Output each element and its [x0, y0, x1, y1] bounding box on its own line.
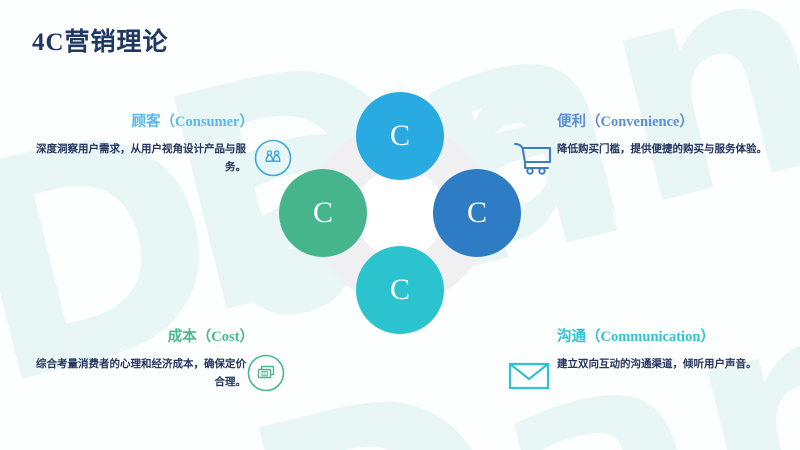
block-cost-heading: 成本（Cost）: [30, 328, 296, 347]
circle-node-letter: C: [467, 198, 487, 228]
block-convenience-heading: 便利（Convenience）: [505, 113, 771, 132]
svg-text:$: $: [263, 371, 266, 377]
page-title: 4C营销理论: [32, 22, 169, 58]
slide-canvas: Dan Dan Dan 4C营销理论 C C C C 顾客（Consumer） …: [0, 0, 800, 450]
circle-node-letter: C: [390, 121, 410, 151]
envelope-icon: [508, 355, 550, 397]
circle-node-consumer[interactable]: C: [356, 92, 444, 180]
circle-node-cost[interactable]: C: [279, 169, 367, 257]
block-consumer-heading: 顾客（Consumer）: [30, 113, 296, 132]
people-circle-icon: [252, 137, 294, 179]
circle-node-letter: C: [390, 275, 410, 305]
circle-node-letter: C: [313, 198, 333, 228]
ring-inner-hole: [355, 168, 445, 258]
money-circle-icon: $: [245, 352, 287, 394]
center-diagram: C C C C: [287, 100, 513, 326]
shopping-cart-icon: [512, 137, 554, 179]
circle-node-communication[interactable]: C: [356, 246, 444, 334]
block-communication-heading: 沟通（Communication）: [505, 328, 771, 347]
circle-node-convenience[interactable]: C: [433, 169, 521, 257]
